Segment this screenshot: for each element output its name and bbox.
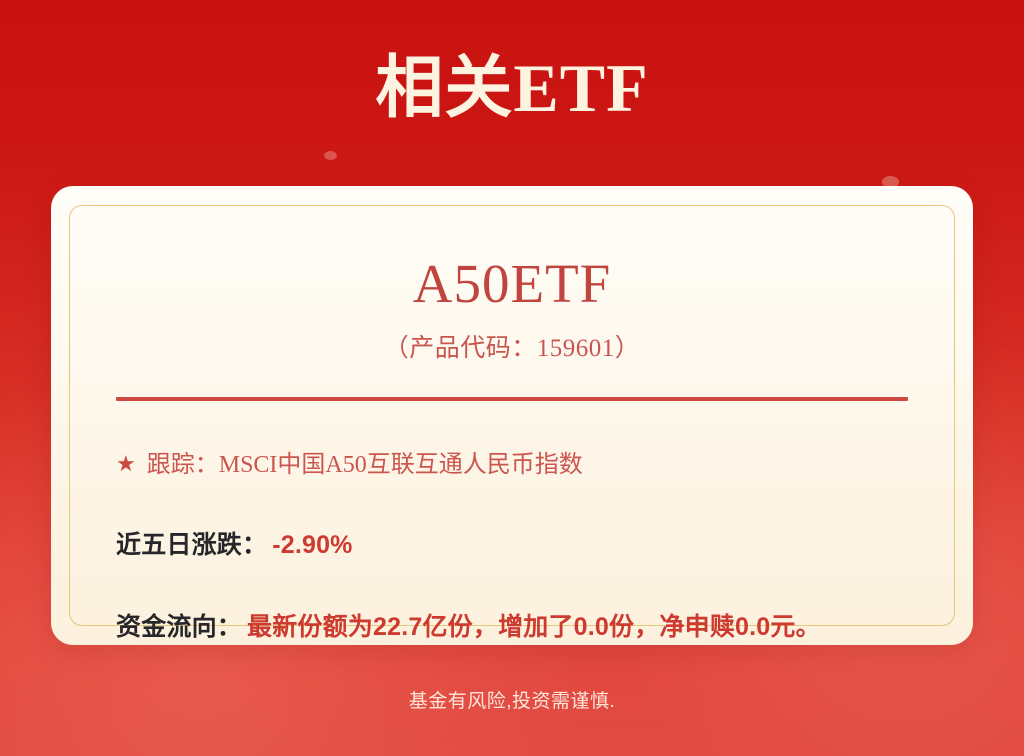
fund-flow-label: 资金流向： [116, 607, 242, 643]
tracking-index-name: MSCI中国A50互联互通人民币指数 [219, 444, 583, 479]
card-divider [116, 397, 908, 401]
five-day-change-row: 近五日涨跌： -2.90% [116, 525, 908, 561]
page-title: 相关ETF [375, 54, 648, 122]
fund-flow-row: 资金流向： 最新份额为22.7亿份，增加了0.0份，净申赎0.0元。 [116, 607, 908, 643]
etf-info-poster: 相关ETF A50ETF （产品代码：159601） ★ 跟踪： MSCI中国A… [0, 0, 1024, 756]
tracking-label: 跟踪： [147, 444, 219, 479]
etf-card: A50ETF （产品代码：159601） ★ 跟踪： MSCI中国A50互联互通… [51, 186, 973, 645]
poster-header: 相关ETF [0, 0, 1024, 175]
etf-card-inner-border: A50ETF （产品代码：159601） ★ 跟踪： MSCI中国A50互联互通… [69, 205, 955, 626]
five-day-change-value: -2.90% [272, 531, 352, 560]
risk-disclaimer: 基金有风险,投资需谨慎. [0, 686, 1024, 713]
star-icon: ★ [116, 453, 136, 475]
fund-name: A50ETF [116, 256, 908, 311]
five-day-change-label: 近五日涨跌： [116, 525, 267, 561]
tracking-row: ★ 跟踪： MSCI中国A50互联互通人民币指数 [116, 444, 908, 479]
fund-code: （产品代码：159601） [116, 336, 908, 361]
fund-flow-value: 最新份额为22.7亿份，增加了0.0份，净申赎0.0元。 [247, 607, 821, 643]
